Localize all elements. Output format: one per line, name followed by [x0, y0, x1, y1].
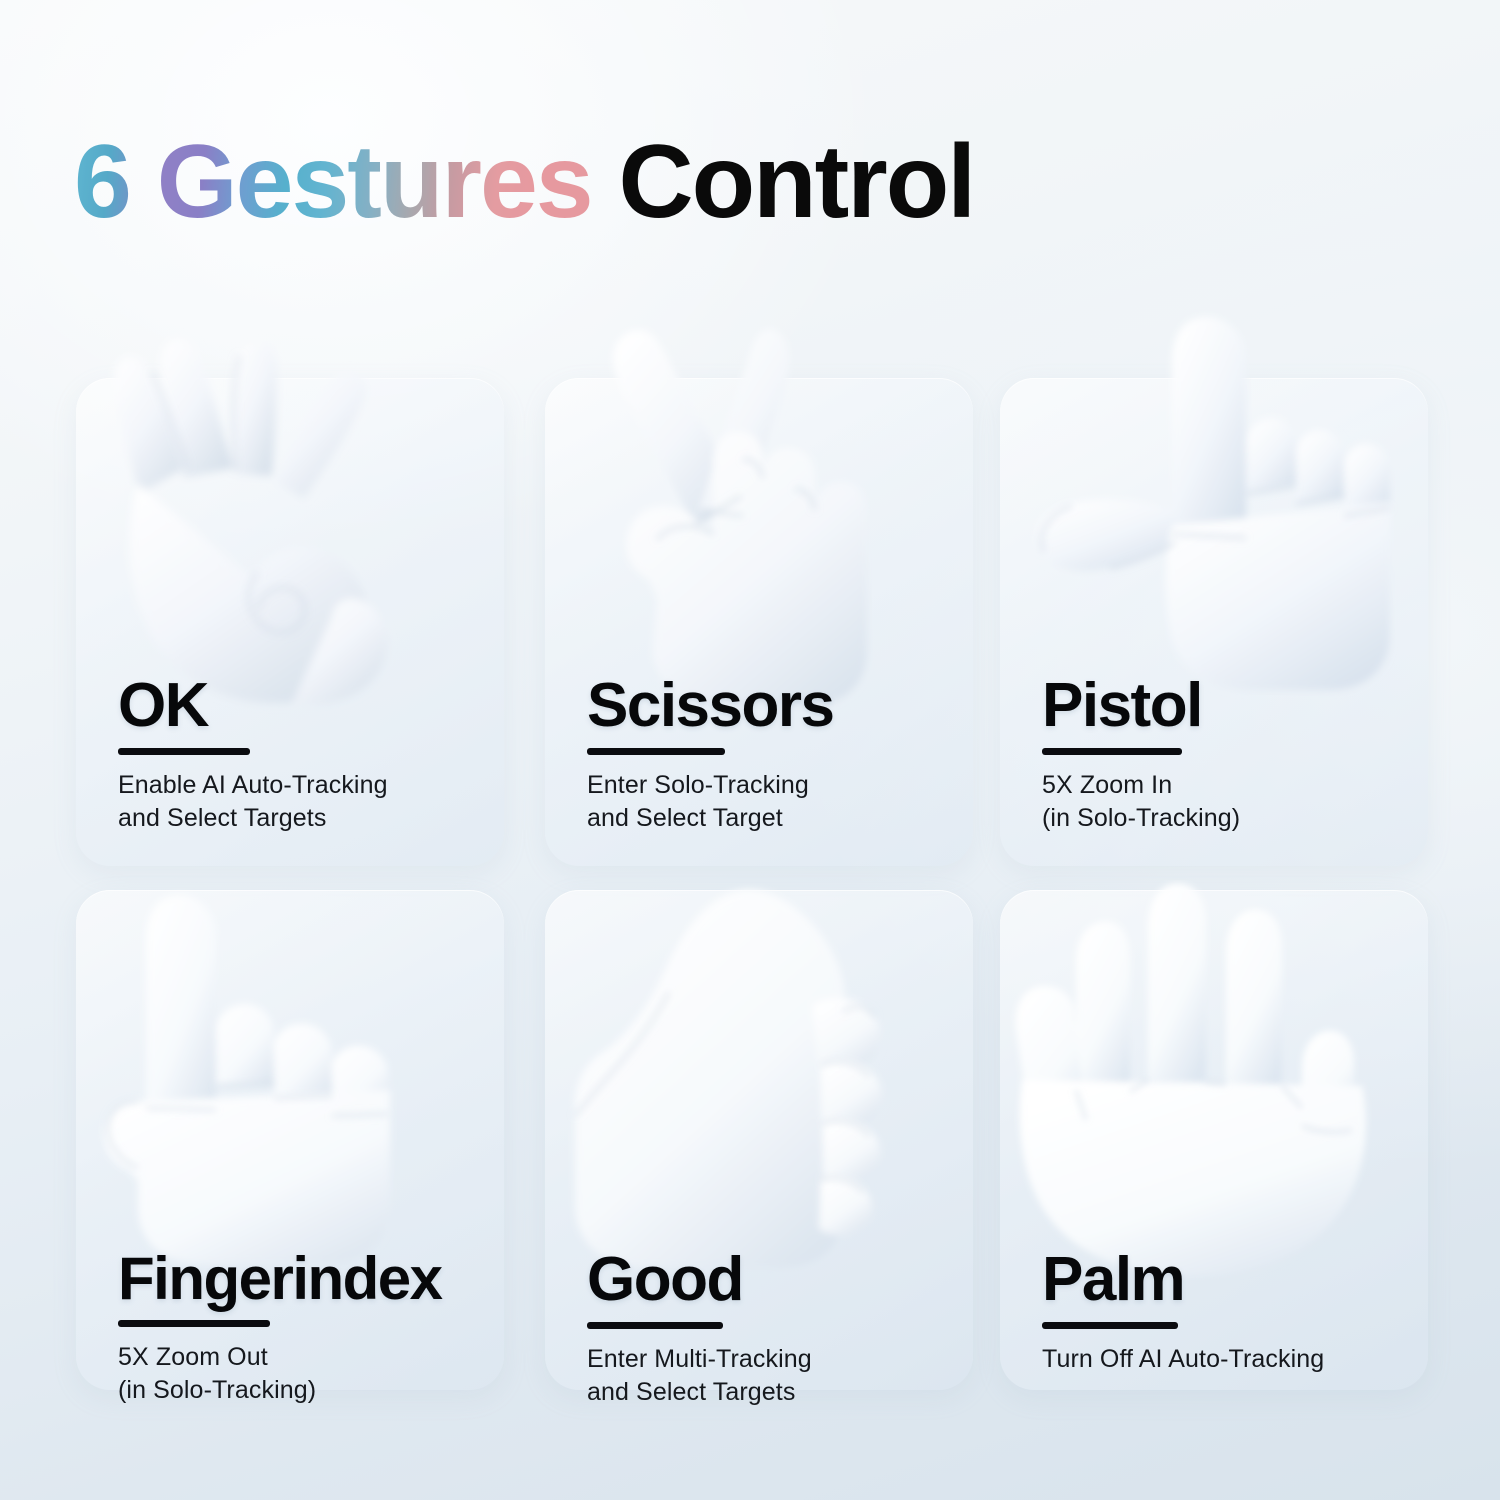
gesture-description-good: Enter Multi-Tracking and Select Targets [587, 1343, 955, 1409]
gesture-card-palm[interactable]: Palm Turn Off AI Auto-Tracking [1000, 890, 1428, 1390]
gesture-card-text-scissors: Scissors Enter Solo-Tracking and Select … [587, 674, 955, 835]
gesture-description-fingerindex: 5X Zoom Out (in Solo-Tracking) [118, 1341, 486, 1407]
gesture-name-underline-palm [1042, 1322, 1178, 1329]
gesture-description-ok: Enable AI Auto-Tracking and Select Targe… [118, 769, 486, 835]
gesture-card-text-ok: OK Enable AI Auto-Tracking and Select Ta… [118, 674, 486, 835]
gesture-card-scissors[interactable]: Scissors Enter Solo-Tracking and Select … [545, 378, 973, 866]
gesture-description-scissors: Enter Solo-Tracking and Select Target [587, 769, 955, 835]
gesture-card-good[interactable]: Good Enter Multi-Tracking and Select Tar… [545, 890, 973, 1390]
gesture-card-fingerindex[interactable]: Fingerindex 5X Zoom Out (in Solo-Trackin… [76, 890, 504, 1390]
gesture-name-ok: OK [118, 674, 486, 737]
hand-pistol-gesture-icon [1000, 298, 1428, 718]
gesture-card-ok[interactable]: OK Enable AI Auto-Tracking and Select Ta… [76, 378, 504, 866]
gesture-name-palm: Palm [1042, 1248, 1410, 1311]
gesture-card-text-good: Good Enter Multi-Tracking and Select Tar… [587, 1248, 955, 1409]
hand-victory-scissors-gesture-icon [545, 298, 973, 718]
gesture-description-pistol: 5X Zoom In (in Solo-Tracking) [1042, 769, 1410, 835]
gesture-cards-grid: OK Enable AI Auto-Tracking and Select Ta… [0, 0, 1500, 1500]
gesture-name-scissors: Scissors [587, 674, 955, 737]
gesture-card-text-palm: Palm Turn Off AI Auto-Tracking [1042, 1248, 1410, 1376]
gesture-name-good: Good [587, 1248, 955, 1311]
gesture-name-pistol: Pistol [1042, 674, 1410, 737]
hand-thumbs-up-gesture-icon [545, 880, 973, 1280]
gesture-card-text-pistol: Pistol 5X Zoom In (in Solo-Tracking) [1042, 674, 1410, 835]
hand-ok-gesture-icon [76, 298, 504, 718]
gesture-name-fingerindex: Fingerindex [118, 1248, 486, 1309]
gesture-name-underline-good [587, 1322, 723, 1329]
gesture-name-underline-scissors [587, 748, 725, 755]
gesture-name-underline-fingerindex [118, 1320, 270, 1327]
gesture-card-pistol[interactable]: Pistol 5X Zoom In (in Solo-Tracking) [1000, 378, 1428, 866]
gesture-card-text-fingerindex: Fingerindex 5X Zoom Out (in Solo-Trackin… [118, 1248, 486, 1407]
hand-index-finger-up-gesture-icon [76, 880, 504, 1280]
gesture-description-palm: Turn Off AI Auto-Tracking [1042, 1343, 1410, 1376]
hand-open-palm-gesture-icon [1000, 880, 1428, 1280]
gesture-name-underline-pistol [1042, 748, 1182, 755]
gesture-name-underline-ok [118, 748, 250, 755]
